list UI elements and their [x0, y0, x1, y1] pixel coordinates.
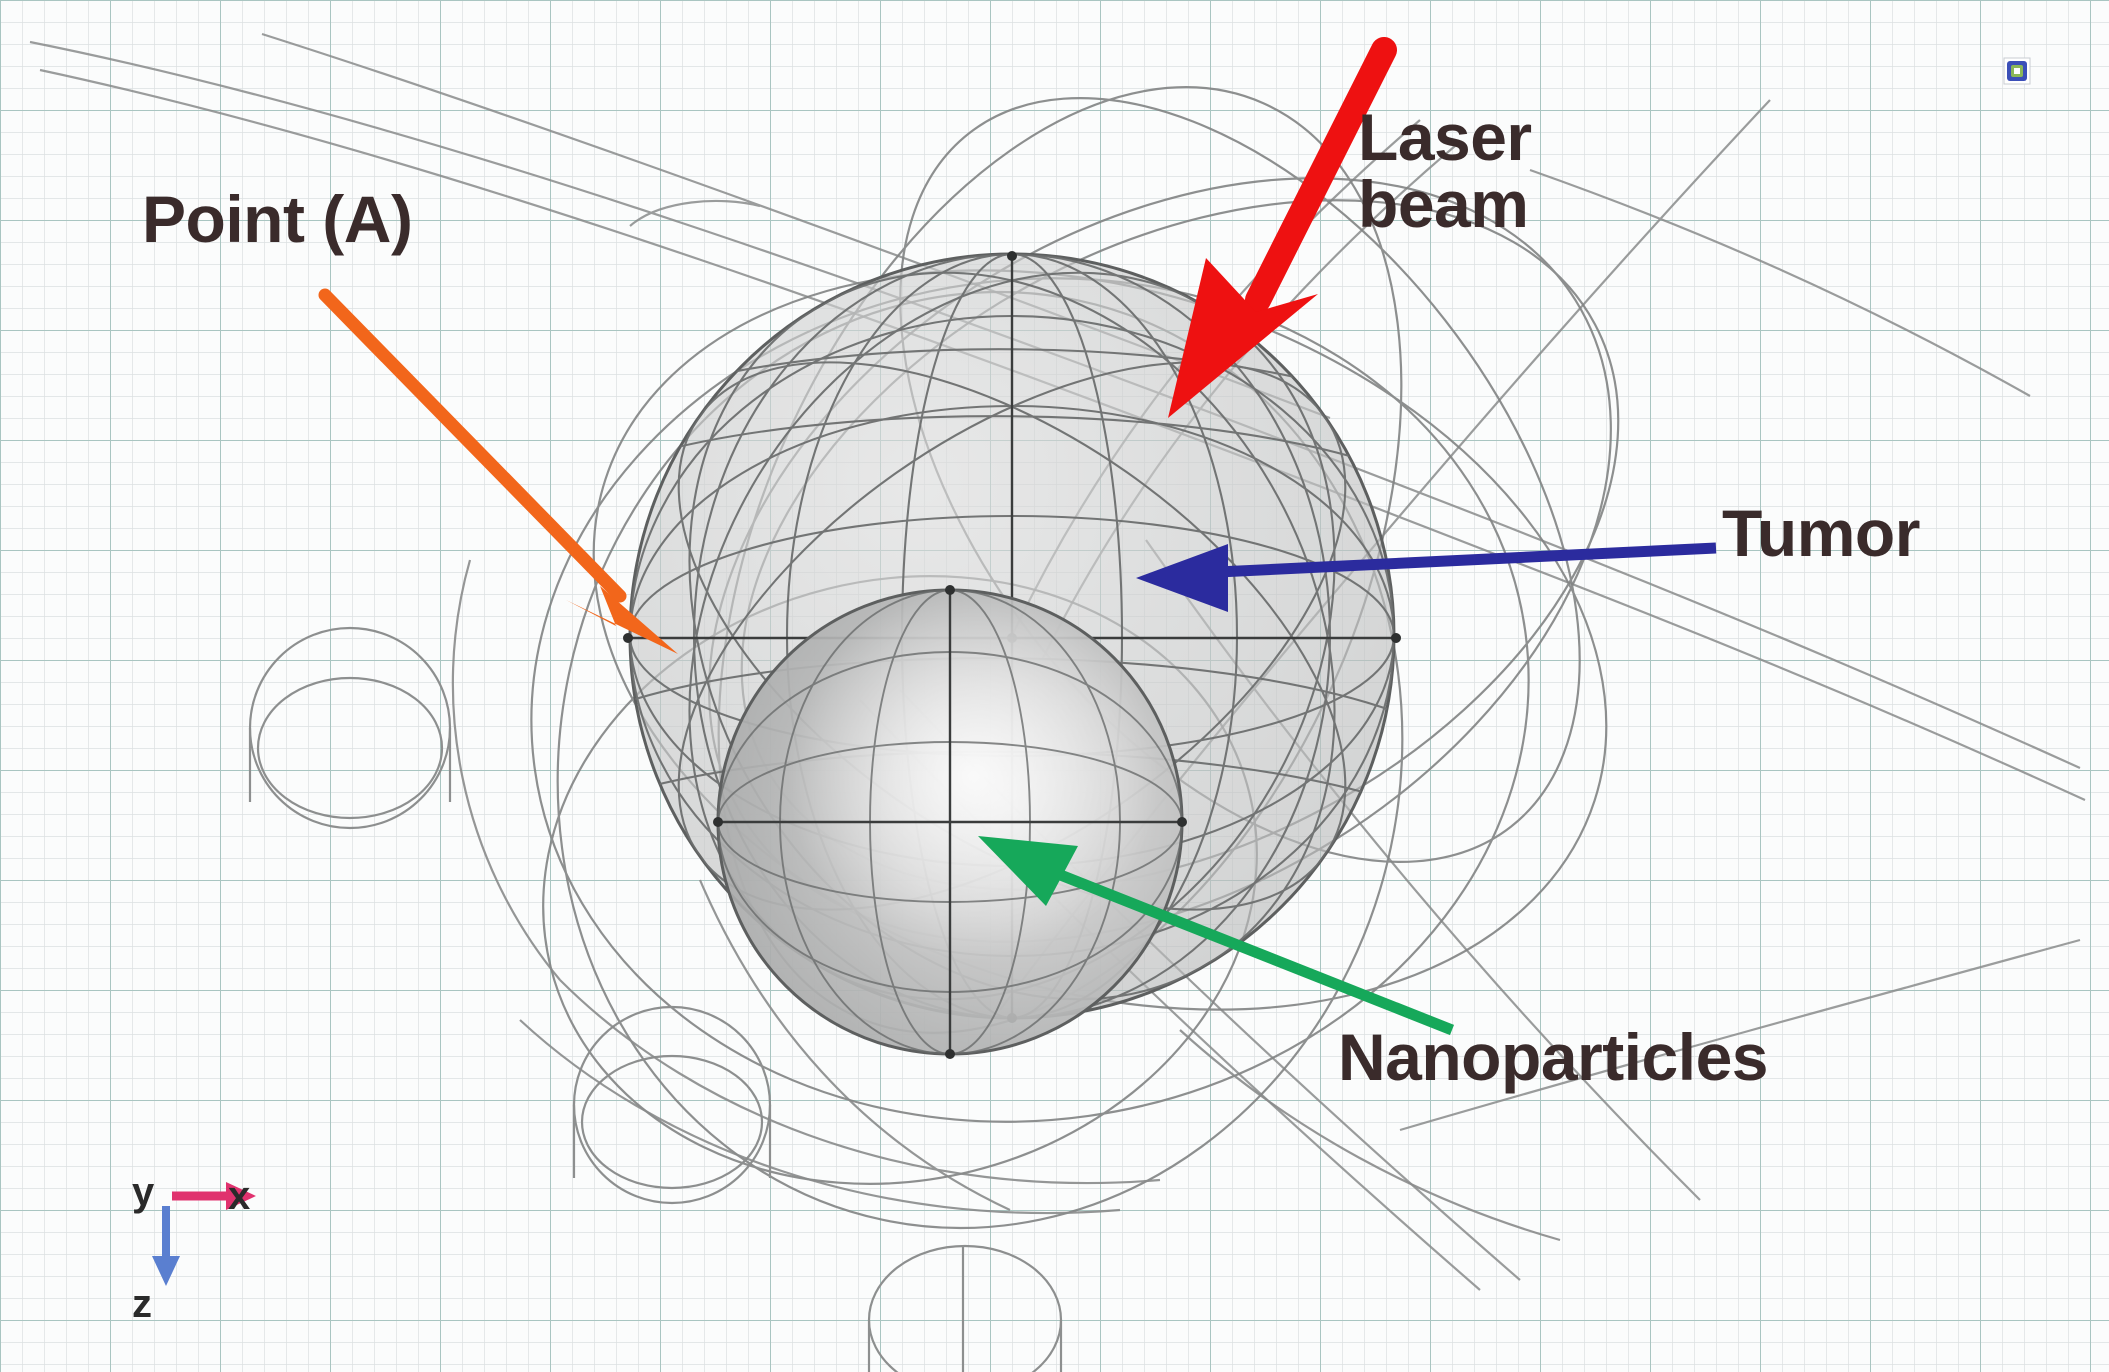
laser-beam-label-line2: beam	[1358, 167, 1528, 241]
axis-label-x: x	[228, 1176, 250, 1216]
point-a-label: Point (A)	[142, 186, 412, 253]
laser-beam-label: Laserbeam	[1358, 104, 1532, 239]
axis-label-y: y	[132, 1172, 154, 1212]
axis-label-z: z	[132, 1284, 152, 1324]
viewport-cube-icon[interactable]	[2004, 58, 2030, 84]
laser-beam-label-line1: Laser	[1358, 100, 1532, 174]
cad-figure-canvas: Point (A) Laserbeam Tumor Nanoparticles …	[0, 0, 2109, 1372]
tumor-label: Tumor	[1722, 500, 1920, 567]
nanoparticles-label: Nanoparticles	[1338, 1024, 1768, 1091]
